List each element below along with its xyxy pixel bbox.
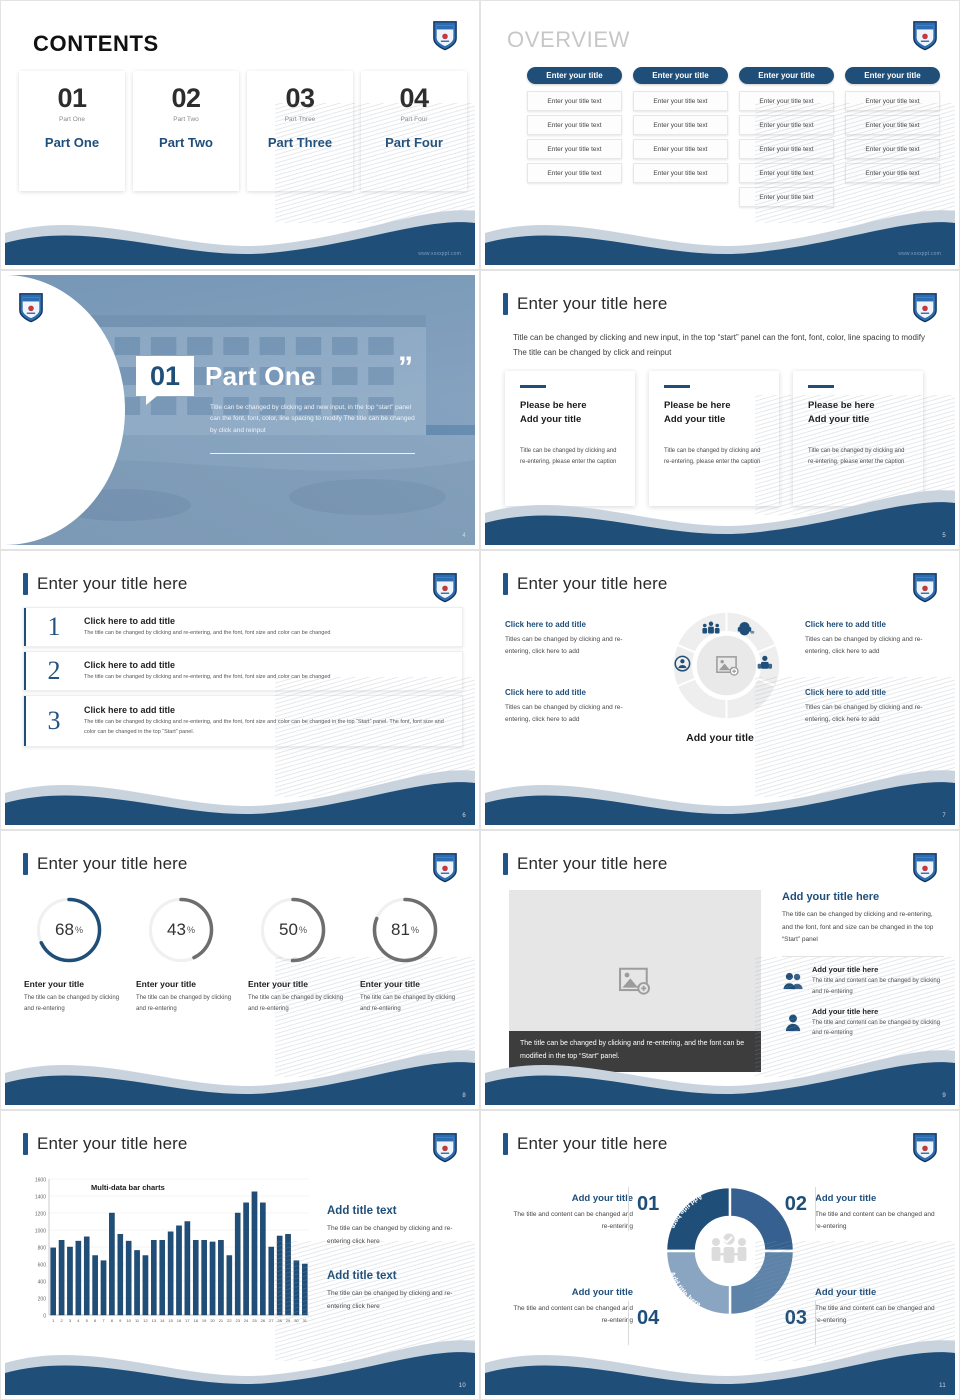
bar-chart: 0200400600800100012001400160012345678910… — [15, 1173, 315, 1333]
svg-text:800: 800 — [38, 1246, 47, 1252]
title-row: Enter your title here — [23, 853, 187, 875]
university-crest-icon — [431, 571, 459, 603]
contents-card[interactable]: 01 Part One Part One — [19, 71, 125, 191]
slide-number: 8 — [462, 1093, 466, 1099]
list-item[interactable]: Add your title here The title and conten… — [782, 1007, 944, 1040]
overview-cell[interactable]: Enter your title text — [739, 163, 834, 183]
list-item[interactable]: 1 Click here to add title The title can … — [23, 607, 463, 647]
wave-decoration — [485, 203, 955, 265]
person-team-icon — [758, 656, 772, 669]
block-body: The title can be changed by clicking and… — [327, 1223, 467, 1248]
column-title-pill[interactable]: Enter your title — [845, 67, 940, 84]
overview-column: Enter your title Enter your title text E… — [739, 67, 834, 207]
svg-text:17: 17 — [185, 1318, 190, 1323]
title-accent-bar — [503, 853, 508, 875]
card-part-label: Part Three — [268, 135, 332, 150]
cycle-text-03: Add your title The title and content can… — [815, 1287, 935, 1327]
card-accent-dash — [520, 385, 546, 388]
segment-body: Titles can be changed by clicking and re… — [505, 702, 635, 726]
cycle-text-04: Add your title The title and content can… — [513, 1287, 633, 1327]
university-crest-icon — [431, 851, 459, 883]
svg-text:16: 16 — [177, 1318, 182, 1323]
column-title-pill[interactable]: Enter your title — [527, 67, 622, 84]
overview-column: Enter your title Enter your title text E… — [633, 67, 728, 207]
card-body: Title can be changed by clicking and re-… — [808, 446, 908, 469]
cycle-text-01: Add your title The title and content can… — [513, 1193, 633, 1233]
block-heading: Add title text — [327, 1205, 467, 1217]
card-heading-line2: Add your title — [808, 413, 908, 427]
item-body: The title can be changed by clicking and… — [84, 629, 452, 638]
card-heading-line1: Please be here — [520, 399, 620, 413]
quote-mark-icon: ” — [398, 357, 413, 378]
svg-text:9: 9 — [119, 1318, 122, 1323]
svg-text:13: 13 — [152, 1318, 157, 1323]
segment-text-bottom-right: Click here to add title Titles can be ch… — [805, 688, 935, 726]
item-number: 3 — [24, 706, 84, 736]
block-body: The title can be changed by clicking and… — [327, 1288, 467, 1313]
svg-text:8: 8 — [111, 1318, 114, 1323]
svg-text:12: 12 — [143, 1318, 148, 1323]
svg-text:19: 19 — [202, 1318, 207, 1323]
overview-cell[interactable]: Enter your title text — [739, 139, 834, 159]
donut-chart: 81 % — [368, 893, 442, 967]
slide-number: 7 — [942, 813, 946, 819]
title-accent-bar — [23, 573, 28, 595]
item-body: The title can be changed by clicking and… — [84, 718, 452, 737]
wave-decoration — [485, 1043, 955, 1105]
block-heading: Add title text — [327, 1270, 467, 1282]
right-text-blocks: Add title text The title can be changed … — [327, 1205, 467, 1314]
wave-decoration — [5, 1333, 475, 1395]
overview-cell[interactable]: Enter your title text — [739, 115, 834, 135]
slide-number: 5 — [942, 533, 946, 539]
donut-heading: Enter your title — [136, 979, 239, 989]
card-body: Title can be changed by clicking and re-… — [520, 446, 620, 469]
svg-text:1600: 1600 — [35, 1178, 46, 1184]
title-accent-bar — [23, 853, 28, 875]
card-accent-dash — [664, 385, 690, 388]
university-crest-icon — [17, 291, 45, 323]
svg-text:1000: 1000 — [35, 1229, 46, 1235]
donut-heading: Enter your title — [24, 979, 127, 989]
title-row: Enter your title here — [503, 1133, 667, 1155]
donut-value: 43 — [167, 920, 186, 940]
slide-overview: OVERVIEW Enter your title Enter your tit… — [480, 0, 960, 270]
wave-decoration — [485, 763, 955, 825]
segment-text-top-right: Click here to add title Titles can be ch… — [805, 620, 935, 658]
wave-decoration — [485, 1333, 955, 1395]
card-number: 03 — [285, 85, 314, 112]
segment-body: Titles can be changed by clicking and re… — [805, 702, 935, 726]
contents-card-list: 01 Part One Part One 02 Part Two Part Tw… — [19, 71, 467, 191]
slide-number: 6 — [462, 813, 466, 819]
overview-cell[interactable]: Enter your title text — [527, 139, 622, 159]
page-title: Enter your title here — [517, 1134, 667, 1154]
overview-cell[interactable]: Enter your title text — [633, 91, 728, 111]
svg-text:11: 11 — [135, 1318, 140, 1323]
overview-column: Enter your title Enter your title text E… — [527, 67, 622, 207]
donut-chart: 68 % — [32, 893, 106, 967]
svg-text:1200: 1200 — [35, 1212, 46, 1218]
slide-bar-chart: Enter your title here Multi-data bar cha… — [0, 1110, 480, 1400]
segment-diagram-area: Click here to add title Titles can be ch… — [485, 600, 955, 790]
svg-text:22: 22 — [227, 1318, 232, 1323]
svg-text:5: 5 — [86, 1318, 89, 1323]
cycle-ring[interactable]: Add title here Add title here Add title … — [656, 1177, 804, 1325]
divider-rule — [210, 453, 415, 454]
contents-card[interactable]: 04 Part Four Part Four — [361, 71, 467, 191]
svg-text:29: 29 — [286, 1318, 291, 1323]
overview-cell[interactable]: Enter your title text — [845, 163, 940, 183]
section-number: 01 — [150, 361, 180, 392]
two-people-icon — [782, 965, 804, 998]
title-row: Enter your title here — [503, 853, 667, 875]
segment-body: Titles can be changed by clicking and re… — [505, 634, 635, 658]
overview-cell[interactable]: Enter your title text — [845, 139, 940, 159]
title-accent-bar — [23, 1133, 28, 1155]
divider — [782, 956, 944, 957]
page-title: Enter your title here — [517, 854, 667, 874]
page-title: OVERVIEW — [507, 27, 630, 53]
slide-donut-stats: Enter your title here 68 % — [0, 830, 480, 1110]
svg-text:15: 15 — [168, 1318, 173, 1323]
university-crest-icon — [911, 19, 939, 51]
page-title: Enter your title here — [37, 854, 187, 874]
item-number: 2 — [24, 656, 84, 686]
donut-body: The title can be changed by clicking and… — [360, 993, 456, 1015]
contents-card[interactable]: 03 Part Three Part Three — [247, 71, 353, 191]
svg-text:10: 10 — [126, 1318, 131, 1323]
svg-text:0: 0 — [43, 1314, 46, 1320]
donut-item[interactable]: 50 % Enter your title The title can be c… — [245, 893, 351, 1015]
donut-unit: % — [299, 925, 307, 935]
overview-cell[interactable]: Enter your title text — [739, 91, 834, 111]
slide-circle-segments: Enter your title here Click here to add … — [480, 550, 960, 830]
overview-cell[interactable]: Enter your title text — [633, 163, 728, 183]
card-part-label: Part One — [45, 135, 99, 150]
slide-contents: CONTENTS 01 Part One Part One 02 Part Tw… — [0, 0, 480, 270]
slide-deck: CONTENTS 01 Part One Part One 02 Part Tw… — [0, 0, 960, 1400]
diagram-caption: Add your title — [485, 732, 955, 744]
page-title: CONTENTS — [33, 31, 159, 57]
card-subtitle: Part Two — [173, 116, 199, 123]
page-title: Enter your title here — [517, 574, 667, 594]
svg-text:7: 7 — [102, 1318, 105, 1323]
list-item-heading: Add your title here — [812, 1007, 944, 1016]
segment-heading: Click here to add title — [505, 620, 635, 629]
overview-cell[interactable]: Enter your title text — [527, 115, 622, 135]
svg-text:600: 600 — [38, 1263, 47, 1269]
donut-item[interactable]: 43 % Enter your title The title can be c… — [133, 893, 239, 1015]
cycle-heading: Add your title — [815, 1287, 935, 1298]
university-crest-icon — [431, 1131, 459, 1163]
svg-text:400: 400 — [38, 1280, 47, 1286]
overview-cell[interactable]: Enter your title text — [527, 91, 622, 111]
group-people-icon — [702, 622, 719, 634]
card-body: Title can be changed by clicking and re-… — [664, 446, 764, 469]
segment-text-bottom-left: Click here to add title Titles can be ch… — [505, 688, 635, 726]
slide-number: 4 — [462, 533, 466, 539]
page-title: Enter your title here — [37, 1134, 187, 1154]
svg-text:25: 25 — [252, 1318, 257, 1323]
item-heading: Click here to add title — [84, 616, 452, 626]
segment-heading: Click here to add title — [505, 688, 635, 697]
overview-cell[interactable]: Enter your title text — [633, 139, 728, 159]
page-title: Enter your title here — [517, 294, 667, 314]
person-circle-icon — [675, 656, 689, 670]
overview-cell[interactable]: Enter your title text — [845, 115, 940, 135]
donut-value: 50 — [279, 920, 298, 940]
svg-text:14: 14 — [160, 1318, 165, 1323]
card-number: 02 — [171, 85, 200, 112]
list-item-heading: Add your title here — [812, 965, 944, 974]
wave-decoration — [485, 483, 955, 545]
card-subtitle: Part One — [59, 116, 85, 123]
item-body: The title can be changed by clicking and… — [84, 673, 452, 682]
segment-body: Titles can be changed by clicking and re… — [805, 634, 935, 658]
university-crest-icon — [911, 291, 939, 323]
right-heading: Add your title here — [782, 891, 944, 903]
donut-unit: % — [187, 925, 195, 935]
numbered-row-list: 1 Click here to add title The title can … — [23, 607, 463, 747]
slide-number: 9 — [942, 1093, 946, 1099]
divider — [628, 1187, 629, 1231]
donut-unit: % — [411, 925, 419, 935]
svg-text:1: 1 — [52, 1318, 55, 1323]
card-heading-line2: Add your title — [664, 413, 764, 427]
donut-chart: 50 % — [256, 893, 330, 967]
card-number: 01 — [57, 85, 86, 112]
svg-text:3: 3 — [69, 1318, 72, 1323]
donut-heading: Enter your title — [360, 979, 463, 989]
donut-item[interactable]: 68 % Enter your title The title can be c… — [21, 893, 127, 1015]
slide-three-cards: Enter your title here Title can be chang… — [480, 270, 960, 550]
donut-body: The title can be changed by clicking and… — [248, 993, 344, 1015]
svg-text:18: 18 — [194, 1318, 199, 1323]
list-item-body: The title and content can be changed by … — [812, 1018, 944, 1040]
slide-cycle-diagram: Enter your title here Add your title The… — [480, 1110, 960, 1400]
footer-watermark: www.xxxxppt.com — [898, 251, 941, 257]
section-title: Part One — [205, 361, 316, 392]
list-item[interactable]: Add your title here The title and conten… — [782, 965, 944, 998]
slide-image-and-list: Enter your title here The title can be c… — [480, 830, 960, 1110]
segment-heading: Click here to add title — [805, 688, 935, 697]
donut-item[interactable]: 81 % Enter your title The title can be c… — [357, 893, 463, 1015]
card-heading-line2: Add your title — [520, 413, 620, 427]
donut-chart: 43 % — [144, 893, 218, 967]
overview-cell[interactable]: Enter your title text — [633, 115, 728, 135]
title-accent-bar — [503, 1133, 508, 1155]
title-row: Enter your title here — [23, 1133, 187, 1155]
donut-body: The title can be changed by clicking and… — [136, 993, 232, 1015]
card-part-label: Part Two — [159, 135, 213, 150]
segment-heading: Click here to add title — [805, 620, 935, 629]
university-crest-icon — [911, 571, 939, 603]
university-crest-icon — [431, 19, 459, 51]
university-crest-icon — [911, 1131, 939, 1163]
wave-decoration — [5, 763, 475, 825]
slide-number: 11 — [939, 1383, 946, 1389]
svg-text:20: 20 — [210, 1318, 215, 1323]
overview-cell[interactable]: Enter your title text — [527, 163, 622, 183]
contents-card[interactable]: 02 Part Two Part Two — [133, 71, 239, 191]
section-body-text: Title can be changed by clicking and new… — [210, 402, 420, 436]
section-number-badge: 01 — [136, 356, 194, 396]
column-title-pill[interactable]: Enter your title — [739, 67, 834, 84]
cycle-body: The title and content can be changed and… — [513, 1303, 633, 1327]
title-row: Enter your title here — [503, 293, 667, 315]
svg-text:6: 6 — [94, 1318, 97, 1323]
overview-cell[interactable]: Enter your title text — [845, 91, 940, 111]
list-item-body: The title and content can be changed by … — [812, 976, 944, 998]
card-number: 04 — [399, 85, 428, 112]
title-row: Enter your title here — [23, 573, 187, 595]
svg-text:31: 31 — [303, 1318, 308, 1323]
cycle-body: The title and content can be changed and… — [815, 1303, 935, 1327]
segment-ring[interactable] — [669, 608, 784, 723]
divider — [815, 1187, 816, 1231]
donut-body: The title can be changed by clicking and… — [24, 993, 120, 1015]
svg-text:26: 26 — [261, 1318, 266, 1323]
svg-text:2: 2 — [60, 1318, 63, 1323]
wave-decoration — [5, 203, 475, 265]
page-title: Enter your title here — [37, 574, 187, 594]
list-item[interactable]: 3 Click here to add title The title can … — [23, 695, 463, 747]
svg-text:28: 28 — [277, 1318, 282, 1323]
card-part-label: Part Four — [385, 135, 443, 150]
list-item[interactable]: 2 Click here to add title The title can … — [23, 651, 463, 691]
donut-value: 68 — [55, 920, 74, 940]
donut-unit: % — [75, 925, 83, 935]
svg-text:1400: 1400 — [35, 1195, 46, 1201]
cycle-body: The title and content can be changed and… — [513, 1209, 633, 1233]
cycle-heading: Add your title — [513, 1193, 633, 1204]
item-number: 1 — [24, 612, 84, 642]
item-heading: Click here to add title — [84, 660, 452, 670]
svg-text:27: 27 — [269, 1318, 274, 1323]
slide-section-divider: 01 Part One ” Title can be changed by cl… — [0, 270, 480, 550]
footer-watermark: www.xxxxppt.com — [418, 251, 461, 257]
donut-list: 68 % Enter your title The title can be c… — [21, 893, 463, 1015]
title-row: Enter your title here — [503, 573, 667, 595]
overview-grid: Enter your title Enter your title text E… — [527, 67, 940, 207]
svg-text:30: 30 — [294, 1318, 299, 1323]
svg-text:24: 24 — [244, 1318, 249, 1323]
segment-text-top-left: Click here to add title Titles can be ch… — [505, 620, 635, 658]
slide-numbered-list: Enter your title here 1 Click here to ad… — [0, 550, 480, 830]
donut-heading: Enter your title — [248, 979, 351, 989]
cycle-text-02: Add your title The title and content can… — [815, 1193, 935, 1233]
single-person-icon — [782, 1007, 804, 1040]
university-crest-icon — [911, 851, 939, 883]
card-heading-line1: Please be here — [664, 399, 764, 413]
card-heading-line1: Please be here — [808, 399, 908, 413]
overview-column: Enter your title Enter your title text E… — [845, 67, 940, 207]
card-subtitle: Part Four — [400, 116, 427, 123]
column-title-pill[interactable]: Enter your title — [633, 67, 728, 84]
add-image-icon — [619, 967, 651, 995]
cycle-body: The title and content can be changed and… — [815, 1209, 935, 1233]
right-body: The title can be changed by clicking and… — [782, 909, 944, 947]
svg-text:4: 4 — [77, 1318, 80, 1323]
slide-number: 10 — [459, 1383, 466, 1389]
svg-text:21: 21 — [219, 1318, 224, 1323]
person-headset-icon — [738, 622, 754, 635]
lead-paragraph: Title can be changed by clicking and new… — [513, 331, 933, 361]
title-accent-bar — [503, 293, 508, 315]
wave-decoration — [5, 1043, 475, 1105]
card-accent-dash — [808, 385, 834, 388]
item-heading: Click here to add title — [84, 705, 452, 715]
cycle-heading: Add your title — [513, 1287, 633, 1298]
donut-value: 81 — [391, 920, 410, 940]
cycle-heading: Add your title — [815, 1193, 935, 1204]
card-subtitle: Part Three — [285, 116, 316, 123]
title-accent-bar — [503, 573, 508, 595]
right-content: Add your title here The title can be cha… — [782, 891, 944, 1048]
svg-text:200: 200 — [38, 1297, 47, 1303]
svg-text:23: 23 — [235, 1318, 240, 1323]
